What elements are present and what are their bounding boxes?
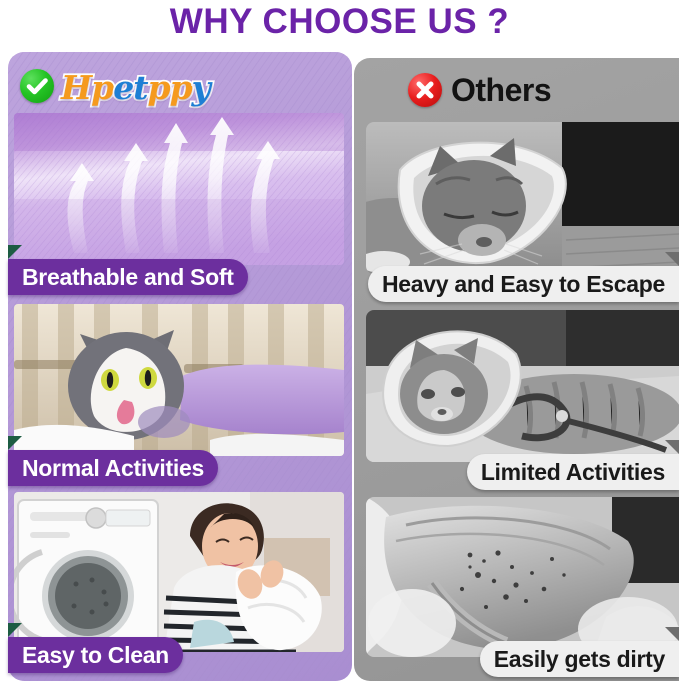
ribbon-fold-bad-3 [665, 627, 679, 641]
infographic-root: WHY CHOOSE US ? Hpetppy [0, 0, 679, 681]
label-limited-activities: Limited Activities [467, 454, 679, 490]
ribbon-fold-good-2 [8, 436, 22, 450]
brand-part-2: et [113, 71, 147, 104]
label-breathable-and-soft: Breathable and Soft [8, 259, 248, 295]
label-normal-activities: Normal Activities [8, 450, 218, 486]
label-easily-gets-dirty: Easily gets dirty [480, 641, 679, 677]
brand-logo: Hpetppy [61, 71, 210, 104]
image-heavy-cone-cat [366, 122, 679, 274]
red-x-circle-icon [408, 73, 442, 107]
label-easy-to-clean: Easy to Clean [8, 637, 183, 673]
page-title: WHY CHOOSE US ? [0, 2, 679, 42]
image-easily-gets-dirty-collar [366, 497, 679, 657]
others-title: Others [451, 72, 551, 109]
image-breathable-fabric [14, 113, 344, 265]
brand-part-3: pp [148, 71, 192, 104]
ribbon-fold-good-3 [8, 623, 22, 637]
green-check-circle-icon [20, 69, 54, 103]
ribbon-fold-good-1 [8, 245, 22, 259]
image-limited-activities-cone-cat [366, 310, 679, 462]
label-heavy-and-easy-to-escape: Heavy and Easy to Escape [368, 266, 679, 302]
image-cat-normal-activities [14, 304, 344, 456]
brand-part-4: y [192, 71, 210, 104]
brand-part-1: Hp [61, 71, 113, 104]
ribbon-fold-bad-2 [665, 440, 679, 454]
ribbon-fold-bad-1 [665, 252, 679, 266]
image-easy-to-clean-laundry [14, 492, 344, 652]
good-column-header: Hpetppy [20, 62, 210, 110]
bad-column-header: Others [408, 66, 551, 114]
